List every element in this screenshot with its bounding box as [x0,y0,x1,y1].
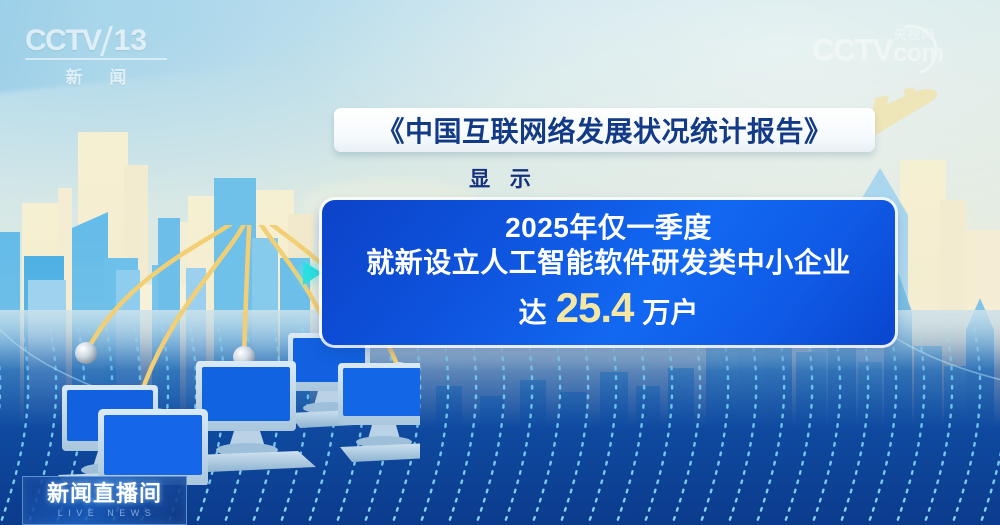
callout-line-2: 就新设立人工智能软件研发类中小企业 [366,246,851,280]
program-banner: 新闻直播间 LIVE NEWS [22,476,187,525]
computer-icon [338,363,420,462]
callout-line-1: 2025年仅一季度 [505,213,712,244]
channel-logo-main: CCTV 13 [25,26,175,56]
channel-logo-subtitle: 新 闻 [25,63,167,88]
callout-line-3: 达 25.4 万户 [519,284,699,332]
callout-unit: 万户 [642,291,698,331]
computer-icon [98,409,208,485]
channel-logo-cctv: CCTV [25,26,101,56]
callout-prefix: 达 [519,291,547,331]
program-name-en: LIVE NEWS [53,508,157,518]
channel-logo-number: 13 [114,26,147,56]
headline-verb: 显 示 [0,163,1000,193]
statistic-callout-box: 2025年仅一季度 就新设立人工智能软件研发类中小企业 达 25.4 万户 [322,200,895,345]
broadcast-screenshot: CCTV 13 新 闻 CCTV 央视网 com 《中国互联网络发展状况统计报告… [0,0,1000,525]
channel-logo-rule [25,58,167,60]
channel-logo-slash [100,26,113,56]
channel-logo: CCTV 13 新 闻 [25,26,175,86]
report-title-banner: 《中国互联网络发展状况统计报告》 [334,108,875,152]
watermark-cctv-text: CCTV [812,34,892,65]
callout-figure: 25.4 [556,284,634,332]
program-name-cn: 新闻直播间 [47,483,162,505]
play-triangle-icon [303,261,322,285]
report-title-text: 《中国互联网络发展状况统计报告》 [376,110,832,150]
cctv-com-watermark: CCTV 央视网 com [812,28,982,76]
